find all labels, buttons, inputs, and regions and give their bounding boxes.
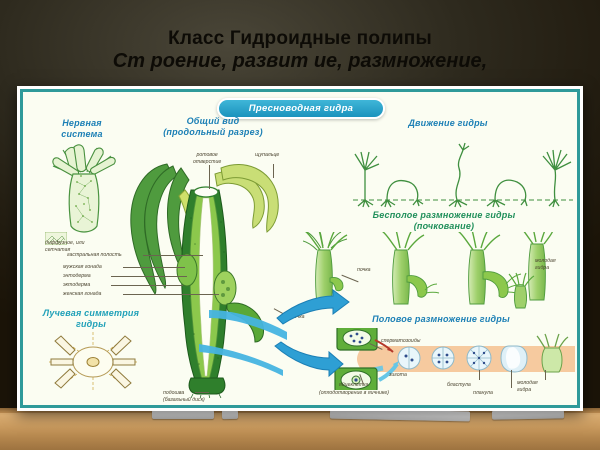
title-line-2: Ст роение, развит ие, размножение, bbox=[0, 50, 600, 72]
arrow-body-sweep-1 bbox=[209, 306, 289, 346]
caption-blastula: бластула bbox=[447, 382, 471, 389]
title-line-1: Класс Гидроидные полипы bbox=[0, 28, 600, 49]
sexual-reproduction-strip bbox=[331, 328, 575, 390]
caption-female-gonad: женская гонада bbox=[63, 291, 101, 298]
caption-young-hydra-sexual: молодаягидра bbox=[517, 380, 538, 393]
heading-asexual-reproduction: Бесполое размножение гидры (почкование) bbox=[345, 210, 543, 231]
radial-symmetry-figure bbox=[45, 330, 141, 394]
heading-movement-label: Движение гидры bbox=[373, 118, 523, 129]
chalk-piece[interactable] bbox=[152, 410, 214, 419]
heading-general-view-l1: Общий вид bbox=[149, 116, 277, 127]
leader-planula bbox=[511, 370, 512, 388]
caption-bud-sequence: почка bbox=[357, 267, 371, 274]
leader-endoderm bbox=[111, 276, 187, 277]
caption-egg-cell: яйцеклетка bbox=[339, 382, 368, 389]
caption-young-hydra-budding: молодаягидра bbox=[535, 258, 556, 271]
hydra-poster: Пресноводная гидра Нервная система Общий… bbox=[23, 92, 577, 405]
heading-asexual-l2: (почкование) bbox=[345, 221, 543, 232]
caption-mouth-opening: ротовоеотверстие bbox=[193, 152, 221, 165]
heading-asexual-l1: Бесполое размножение гидры bbox=[345, 210, 543, 221]
leader-mouth bbox=[209, 165, 210, 189]
heading-sexual-label: Половое размножение гидры bbox=[341, 314, 541, 325]
whiteboard-inner-frame: Пресноводная гидра Нервная система Общий… bbox=[20, 89, 580, 408]
caption-male-gonad: мужская гонада bbox=[63, 264, 102, 271]
banner-label: Пресноводная гидра bbox=[249, 103, 354, 114]
movement-sequence-figure bbox=[353, 136, 573, 208]
caption-endoderm: энтодерма bbox=[63, 273, 91, 280]
leader-gastral bbox=[143, 255, 203, 256]
page-title: Класс Гидроидные полипы Ст роение, разви… bbox=[0, 28, 600, 73]
leader-female-gonad bbox=[123, 294, 219, 295]
caption-planula: планула bbox=[473, 390, 493, 397]
leader-male-gonad bbox=[123, 267, 185, 268]
caption-zygote: зигота bbox=[389, 372, 407, 379]
caption-tentacle: щупальце bbox=[255, 152, 279, 159]
leader-young-hydra-sexual bbox=[545, 370, 546, 380]
caption-ectoderm: эктодерма bbox=[63, 282, 90, 289]
heading-movement: Движение гидры bbox=[373, 118, 523, 129]
leader-tentacle bbox=[273, 164, 274, 178]
leader-ectoderm bbox=[111, 285, 183, 286]
heading-sexual-reproduction: Половое размножение гидры bbox=[341, 314, 541, 325]
leader-blastula bbox=[479, 370, 480, 380]
arrow-body-sweep-2 bbox=[199, 342, 285, 378]
chalk-piece[interactable] bbox=[222, 410, 238, 419]
caption-gastral-cavity: гастральная полость bbox=[67, 252, 122, 259]
caption-fertilization: (оплодотворение в яичнике) bbox=[319, 390, 389, 397]
caption-spermatozoa: сперматозоиды bbox=[381, 338, 421, 345]
whiteboard: Пресноводная гидра Нервная система Общий… bbox=[17, 86, 583, 411]
leader-sole bbox=[195, 392, 209, 393]
